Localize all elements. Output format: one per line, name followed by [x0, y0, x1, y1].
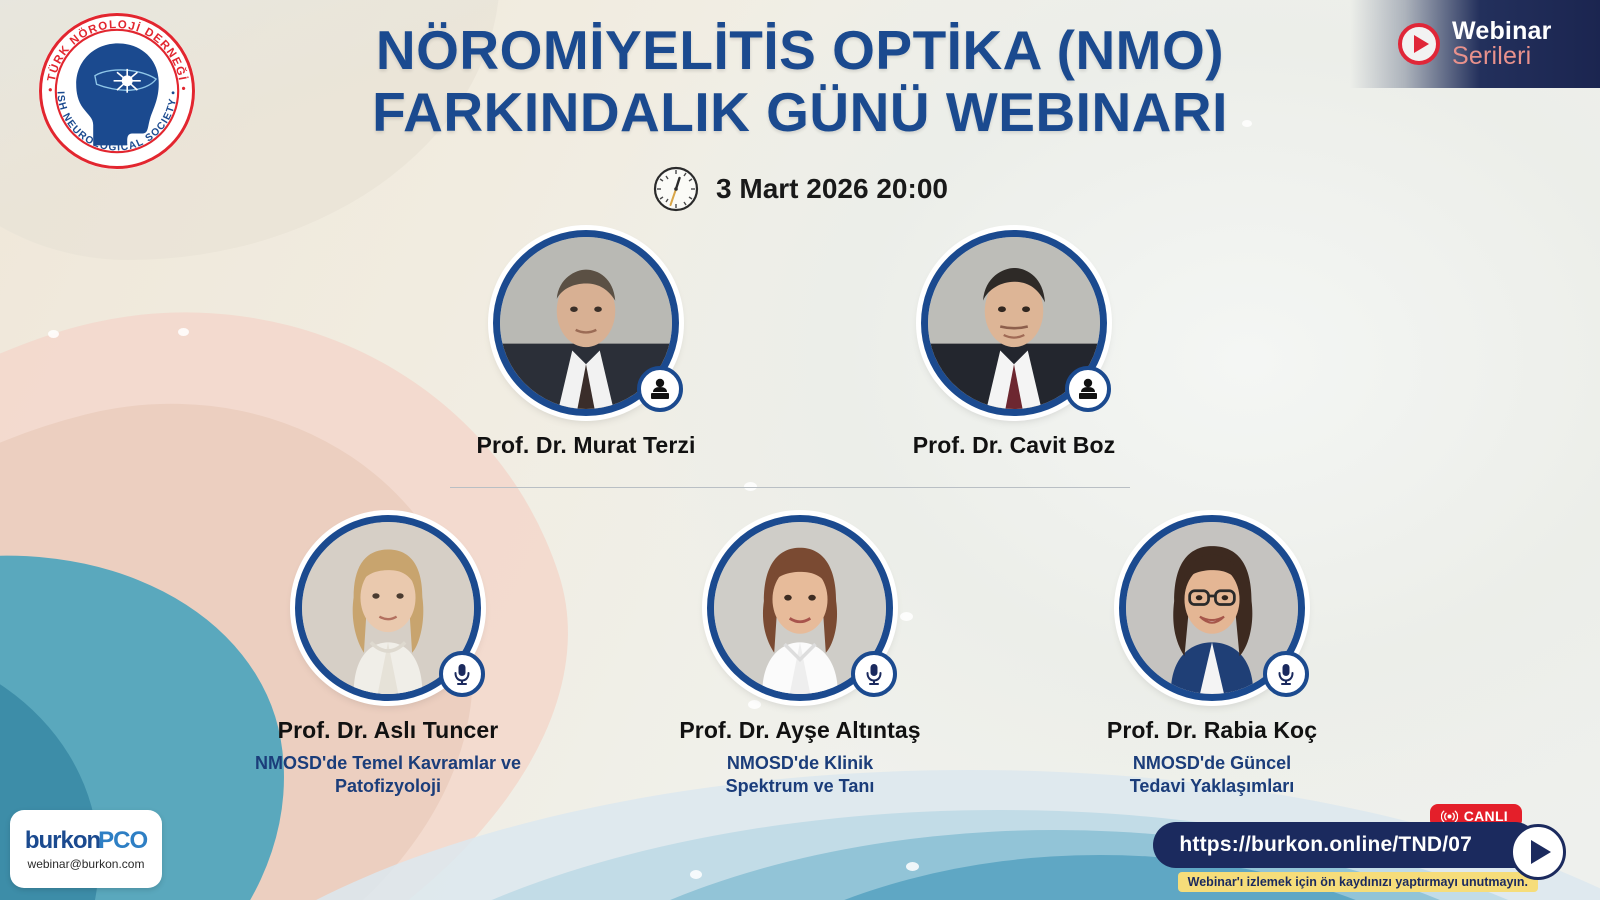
speaker-topic: NMOSD'de Klinik Spektrum ve Tanı — [726, 752, 875, 797]
moderator-card: Prof. Dr. Cavit Boz — [864, 230, 1164, 459]
burkon-wordmark: burkon — [25, 827, 100, 855]
microphone-icon — [1263, 651, 1309, 697]
decorative-dot — [690, 870, 702, 879]
title-line-1: NÖROMİYELİTİS OPTİKA (NMO) — [0, 20, 1600, 82]
speaker-topic-line1: NMOSD'de Temel Kavramlar ve — [255, 753, 521, 773]
play-triangle-icon — [1531, 840, 1551, 864]
speaker-card: Prof. Dr. Ayşe Altıntaş NMOSD'de Klinik … — [650, 515, 950, 797]
play-button[interactable] — [1510, 824, 1566, 880]
webinar-datetime: 3 Mart 2026 20:00 — [716, 173, 948, 205]
speaker-topic-line1: NMOSD'de Güncel — [1133, 753, 1291, 773]
speaker-topic-line2: Patofizyoloji — [335, 776, 441, 796]
title-line-2: FARKINDALIK GÜNÜ WEBINARI — [0, 82, 1600, 144]
page-title: NÖROMİYELİTİS OPTİKA (NMO) FARKINDALIK G… — [0, 20, 1600, 213]
speakers-row: Prof. Dr. Aslı Tuncer NMOSD'de Temel Kav… — [0, 515, 1600, 797]
speaker-topic: NMOSD'de Temel Kavramlar ve Patofizyoloj… — [255, 752, 521, 797]
speaker-name: Prof. Dr. Ayşe Altıntaş — [679, 717, 920, 744]
decorative-dot — [906, 862, 919, 871]
microphone-icon — [439, 651, 485, 697]
section-divider — [450, 487, 1130, 488]
pco-wordmark: PCO — [98, 827, 147, 855]
speaker-topic-line1: NMOSD'de Klinik — [727, 753, 873, 773]
speaker-card: Prof. Dr. Aslı Tuncer NMOSD'de Temel Kav… — [238, 515, 538, 797]
speaker-card: Prof. Dr. Rabia Koç NMOSD'de Güncel Teda… — [1062, 515, 1362, 797]
speaker-name: Prof. Dr. Rabia Koç — [1107, 717, 1317, 744]
microphone-icon — [851, 651, 897, 697]
moderator-card: Prof. Dr. Murat Terzi — [436, 230, 736, 459]
burkon-email: webinar@burkon.com — [28, 857, 145, 871]
speaker-name: Prof. Dr. Aslı Tuncer — [278, 717, 499, 744]
webinar-url-pill[interactable]: https://burkon.online/TND/07 — [1153, 822, 1538, 868]
speaker-topic-line2: Tedavi Yaklaşımları — [1130, 776, 1294, 796]
podium-speaker-icon — [637, 366, 683, 412]
clock-icon — [652, 165, 700, 213]
burkon-pco-logo: burkon PCO webinar@burkon.com — [10, 810, 162, 888]
speaker-topic-line2: Spektrum ve Tanı — [726, 776, 875, 796]
webinar-url-text: https://burkon.online/TND/07 — [1179, 833, 1472, 857]
speaker-topic: NMOSD'de Güncel Tedavi Yaklaşımları — [1130, 752, 1294, 797]
moderator-name: Prof. Dr. Cavit Boz — [913, 432, 1116, 459]
registration-notice: Webinar'ı izlemek için ön kaydınızı yapt… — [1178, 872, 1538, 892]
podium-speaker-icon — [1065, 366, 1111, 412]
moderators-row: Prof. Dr. Murat Terzi — [0, 230, 1600, 459]
moderator-name: Prof. Dr. Murat Terzi — [477, 432, 696, 459]
datetime-row: 3 Mart 2026 20:00 — [0, 165, 1600, 213]
